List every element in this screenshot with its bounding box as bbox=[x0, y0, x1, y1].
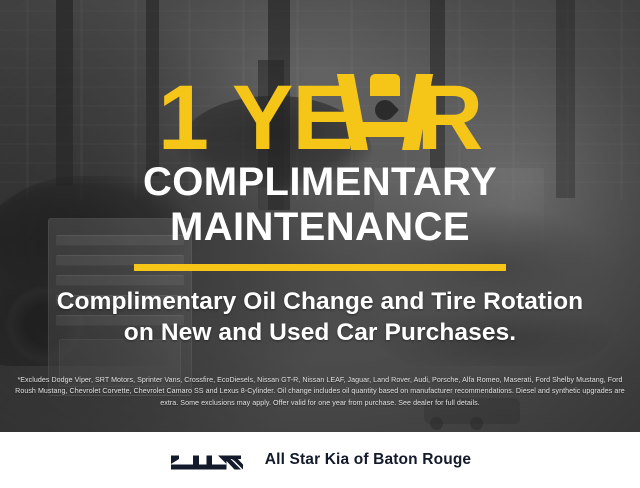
oil-drop-letter-a-icon bbox=[351, 74, 419, 150]
brand-footer: All Star Kia of Baton Rouge bbox=[0, 432, 640, 488]
dealer-name: All Star Kia of Baton Rouge bbox=[265, 451, 471, 469]
yellow-divider-bar bbox=[134, 264, 506, 271]
disclaimer-text: *Excludes Dodge Viper, SRT Motors, Sprin… bbox=[14, 375, 626, 409]
advertisement-banner: 1YE R COMPLIMENTARY MAINTENANCE Complime… bbox=[0, 0, 640, 488]
subheadline-line-2: MAINTENANCE bbox=[0, 207, 640, 248]
headline-word-prefix: YE bbox=[232, 67, 353, 169]
ad-content: 1YE R COMPLIMENTARY MAINTENANCE Complime… bbox=[0, 0, 640, 432]
headline-number: 1 bbox=[158, 67, 208, 169]
promo-line-1: Complimentary Oil Change and Tire Rotati… bbox=[0, 287, 640, 318]
subheadline-line-1: COMPLIMENTARY bbox=[0, 162, 640, 203]
kia-logo-icon bbox=[169, 448, 243, 472]
letter-a-apex bbox=[370, 74, 400, 96]
headline-one-year: 1YE R bbox=[0, 0, 640, 158]
oil-droplet-icon bbox=[371, 96, 399, 124]
letter-a-crossbar bbox=[359, 122, 411, 137]
promo-line-2: on New and Used Car Purchases. bbox=[0, 318, 640, 349]
